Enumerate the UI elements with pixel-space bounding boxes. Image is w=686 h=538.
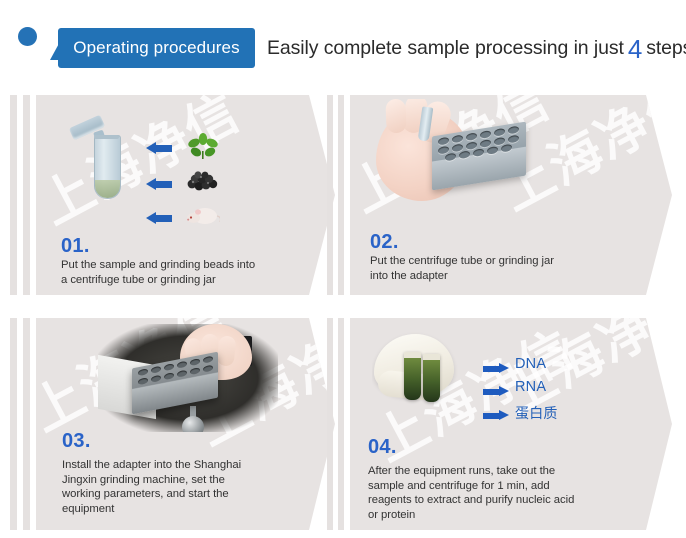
decorative-bar: [23, 95, 30, 295]
decorative-bar: [338, 95, 344, 295]
arrow-right-icon: [483, 410, 509, 421]
page-title: Easily complete sample processing in jus…: [267, 28, 686, 68]
step-description: Put the sample and grinding beads into a…: [61, 258, 261, 287]
step-description: Put the centrifuge tube or grinding jar …: [370, 254, 570, 283]
headline-step-count: 4: [624, 34, 646, 65]
output-label-dna: DNA: [515, 356, 546, 372]
headline-post-text: steps:: [646, 37, 686, 60]
page-header: Operating procedures Easily complete sam…: [0, 0, 686, 80]
badge-label: Operating procedures: [58, 28, 255, 68]
decorative-bar: [10, 95, 17, 295]
decorative-bar: [23, 318, 30, 530]
arrow-right-icon: [483, 363, 509, 374]
green-leaf-icon: [188, 133, 218, 160]
output-label-protein: 蛋白质: [515, 403, 558, 423]
arrow-left-icon: [146, 142, 172, 154]
headline-pre-text: Easily complete sample processing in jus…: [267, 37, 624, 60]
white-mouse-icon: [186, 205, 220, 226]
badge-dot-icon: [18, 27, 37, 46]
decorative-bar: [338, 318, 344, 530]
decorative-bar: [327, 318, 333, 530]
step-number: 01.: [61, 235, 90, 258]
step-photo: [370, 99, 560, 217]
step-description: After the equipment runs, take out the s…: [368, 464, 578, 522]
step-card-body: 上海净信 上海净信 DNA RNA 蛋白质 04. After the equi…: [350, 318, 672, 530]
operating-procedures-badge: Operating procedures: [50, 28, 255, 68]
decorative-bar: [327, 95, 333, 295]
step-card-body: 上海净信 上海净信 02. Put the centrifuge tube or…: [350, 95, 672, 295]
grinding-beads-icon: [186, 171, 220, 191]
arrow-left-icon: [146, 178, 172, 190]
step-card-body: 上海净信 上海净信 03. Install the adapter into t…: [36, 318, 335, 530]
step-number: 04.: [368, 436, 397, 459]
arrow-left-icon: [146, 212, 172, 224]
step-card-01: 上海净信: [10, 95, 335, 295]
step-photo: [98, 324, 278, 432]
step-card-04: 上海净信 上海净信 DNA RNA 蛋白质 04. After the equi…: [327, 318, 672, 530]
arrow-right-icon: [483, 386, 509, 397]
output-label-rna: RNA: [515, 379, 546, 395]
step-number: 03.: [62, 430, 91, 453]
step-card-02: 上海净信 上海净信 02. Put the centrifuge tube or…: [327, 95, 672, 295]
decorative-bar: [10, 318, 17, 530]
step-description: Install the adapter into the Shanghai Ji…: [62, 458, 257, 516]
step-photo: [372, 328, 492, 428]
step-number: 02.: [370, 231, 399, 254]
step-card-03: 上海净信 上海净信 03. Install the adapter into t…: [10, 318, 335, 530]
sample-tube-icon: [404, 352, 421, 400]
sample-tube-icon: [423, 354, 440, 402]
step-card-body: 上海净信: [36, 95, 335, 295]
